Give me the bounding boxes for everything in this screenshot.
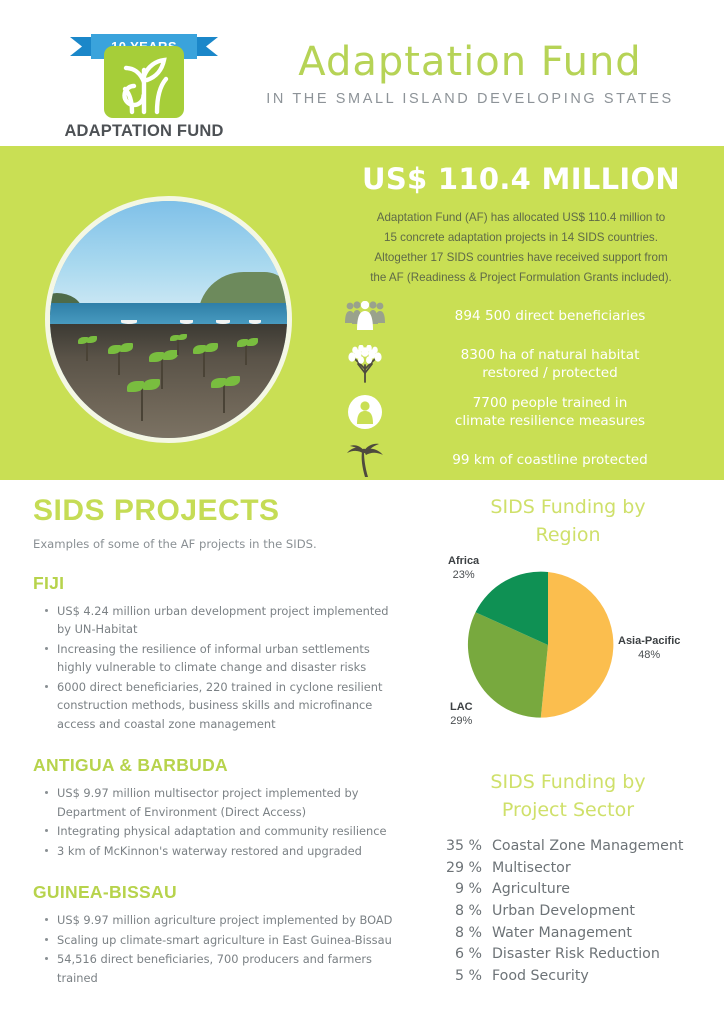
photo-boat	[121, 320, 137, 324]
list-item: US$ 9.97 million agriculture project imp…	[49, 911, 399, 929]
table-row: 8 % Urban Development	[430, 901, 706, 923]
sector-name: Disaster Risk Reduction	[492, 944, 660, 966]
stat-text: 894 500 direct beneficiaries	[394, 307, 716, 325]
intro-paragraph: Adaptation Fund (AF) has allocated US$ 1…	[330, 208, 712, 288]
pie-label-africa: Africa 23%	[448, 555, 479, 581]
sprout-logo-icon	[104, 46, 184, 118]
total-amount: US$ 110.4 MILLION	[330, 162, 712, 196]
lower-section: SIDS PROJECTS Examples of some of the AF…	[0, 480, 724, 1024]
sector-percent: 5 %	[430, 966, 492, 988]
sector-percent: 8 %	[430, 923, 492, 945]
title-block: Adaptation Fund IN THE SMALL ISLAND DEVE…	[250, 42, 690, 107]
sector-percent: 29 %	[430, 858, 492, 880]
people-group-icon	[336, 294, 394, 338]
list-item: Scaling up climate-smart agriculture in …	[49, 931, 399, 949]
stat-line1: 7700 people trained in	[473, 395, 628, 411]
list-item: US$ 9.97 million multisector project imp…	[49, 784, 399, 821]
region-chart-title-line2: Region	[430, 522, 706, 550]
country-name: GUINEA-BISSAU	[33, 882, 399, 903]
stat-line1: 894 500 direct beneficiaries	[455, 308, 646, 324]
projects-column: SIDS PROJECTS Examples of some of the AF…	[33, 494, 399, 988]
pie-label-africa-value: 23%	[448, 569, 479, 581]
adaptation-fund-logo: 10 YEARS ADAPTATION FUND	[58, 26, 230, 131]
country-block-fiji: FIJI US$ 4.24 million urban development …	[33, 573, 399, 733]
region-pie-chart: Africa 23% Asia-Pacific 48% LAC 29%	[430, 553, 706, 749]
list-item: Integrating physical adaptation and comm…	[49, 822, 399, 840]
highlights-banner: US$ 110.4 MILLION Adaptation Fund (AF) h…	[0, 146, 724, 480]
pie-label-lac-value: 29%	[450, 715, 473, 727]
pie-label-lac: LAC 29%	[450, 701, 473, 727]
sector-name: Agriculture	[492, 879, 570, 901]
list-item: 6000 direct beneficiaries, 220 trained i…	[49, 678, 399, 733]
tree-icon	[336, 342, 394, 386]
intro-line: Altogether 17 SIDS countries have receiv…	[330, 248, 712, 268]
stat-text: 7700 people trained in climate resilienc…	[394, 394, 716, 431]
page-subtitle: IN THE SMALL ISLAND DEVELOPING STATES	[250, 91, 690, 107]
charts-column: SIDS Funding by Region Africa 23% Asia-P…	[430, 494, 706, 987]
pie-label-asia-pacific-value: 48%	[618, 649, 680, 661]
sector-chart-title-line1: SIDS Funding by	[430, 769, 706, 797]
country-name: ANTIGUA & BARBUDA	[33, 755, 399, 776]
banner-text-block: US$ 110.4 MILLION Adaptation Fund (AF) h…	[330, 162, 712, 288]
photo-boat	[216, 320, 230, 324]
photo-boat	[249, 320, 261, 324]
sector-chart-title: SIDS Funding by Project Sector	[430, 769, 706, 824]
intro-line: 15 concrete adaptation projects in 14 SI…	[330, 228, 712, 248]
sector-breakdown-list: 35 % Coastal Zone Management 29 % Multis…	[430, 836, 706, 987]
sector-name: Urban Development	[492, 901, 635, 923]
stat-text: 8300 ha of natural habitat restored / pr…	[394, 346, 716, 383]
sector-percent: 8 %	[430, 901, 492, 923]
list-item: US$ 4.24 million urban development proje…	[49, 602, 399, 639]
stat-item-beneficiaries: 894 500 direct beneficiaries	[336, 294, 716, 338]
list-item: Increasing the resilience of informal ur…	[49, 640, 399, 677]
table-row: 29 % Multisector	[430, 858, 706, 880]
intro-line: the AF (Readiness & Project Formulation …	[330, 268, 712, 288]
page-title: Adaptation Fund	[250, 42, 690, 82]
stat-line1: 8300 ha of natural habitat	[461, 347, 640, 363]
pie-label-asia-pacific-name: Asia-Pacific	[618, 635, 680, 647]
logo-wordmark: ADAPTATION FUND	[58, 122, 230, 141]
pie-label-lac-name: LAC	[450, 701, 473, 713]
sector-name: Coastal Zone Management	[492, 836, 683, 858]
sector-percent: 6 %	[430, 944, 492, 966]
table-row: 5 % Food Security	[430, 966, 706, 988]
sector-name: Water Management	[492, 923, 632, 945]
pie-label-africa-name: Africa	[448, 555, 479, 567]
pie-slice-asia-pacific	[541, 572, 614, 718]
projects-heading: SIDS PROJECTS	[33, 494, 399, 528]
palm-tree-icon	[336, 438, 394, 482]
stat-item-coastline: 99 km of coastline protected	[336, 438, 716, 482]
stat-text: 99 km of coastline protected	[394, 451, 716, 469]
region-chart-title-line1: SIDS Funding by	[430, 494, 706, 522]
stat-line1: 99 km of coastline protected	[452, 452, 648, 468]
table-row: 6 % Disaster Risk Reduction	[430, 944, 706, 966]
sector-percent: 9 %	[430, 879, 492, 901]
list-item: 3 km of McKinnon's waterway restored and…	[49, 842, 399, 860]
country-name: FIJI	[33, 573, 399, 594]
table-row: 9 % Agriculture	[430, 879, 706, 901]
country-bullets: US$ 9.97 million multisector project imp…	[33, 784, 399, 860]
stat-line2: restored / protected	[394, 364, 706, 382]
projects-subheading: Examples of some of the AF projects in t…	[33, 537, 399, 551]
country-block-antigua-barbuda: ANTIGUA & BARBUDA US$ 9.97 million multi…	[33, 755, 399, 860]
person-circle-icon	[336, 390, 394, 434]
country-block-guinea-bissau: GUINEA-BISSAU US$ 9.97 million agricultu…	[33, 882, 399, 987]
stat-item-training: 7700 people trained in climate resilienc…	[336, 390, 716, 434]
table-row: 8 % Water Management	[430, 923, 706, 945]
sector-percent: 35 %	[430, 836, 492, 858]
stat-line2: climate resilience measures	[394, 412, 706, 430]
intro-line: Adaptation Fund (AF) has allocated US$ 1…	[330, 208, 712, 228]
key-stats-list: 894 500 direct beneficiaries	[336, 294, 716, 486]
region-chart-title: SIDS Funding by Region	[430, 494, 706, 549]
stat-item-habitat: 8300 ha of natural habitat restored / pr…	[336, 342, 716, 386]
table-row: 35 % Coastal Zone Management	[430, 836, 706, 858]
sector-chart-title-line2: Project Sector	[430, 797, 706, 825]
list-item: 54,516 direct beneficiaries, 700 produce…	[49, 950, 399, 987]
page-header: 10 YEARS ADAPTATION FUND Adaptation Fund…	[0, 0, 724, 145]
country-bullets: US$ 9.97 million agriculture project imp…	[33, 911, 399, 987]
sector-name: Multisector	[492, 858, 571, 880]
pie-label-asia-pacific: Asia-Pacific 48%	[618, 635, 680, 661]
country-bullets: US$ 4.24 million urban development proje…	[33, 602, 399, 733]
photo-boat	[180, 320, 193, 324]
sector-name: Food Security	[492, 966, 589, 988]
mangrove-photo	[45, 196, 292, 443]
